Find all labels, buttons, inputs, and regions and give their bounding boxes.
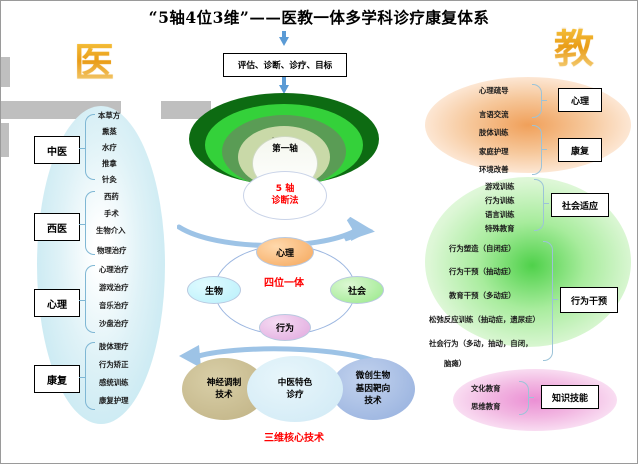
right-item: 文化教育: [471, 383, 501, 394]
tech-line: 技术: [215, 389, 232, 401]
right-item: 特殊教育: [485, 223, 515, 234]
left-item: 熏蒸: [102, 126, 117, 137]
right-item: 行为塑造（自闭症）: [449, 243, 516, 254]
left-group-box-tcm[interactable]: 中医: [34, 136, 80, 164]
tech-line: 中医特色: [278, 377, 312, 389]
brace-rehab: [85, 342, 95, 410]
arrow-down-icon: [279, 37, 289, 46]
axis-label: 第一轴: [253, 142, 317, 154]
tech-line: 诊疗: [286, 389, 303, 401]
right-item: 语言训练: [485, 209, 515, 220]
left-item: 音乐治疗: [99, 300, 129, 311]
tech-ellipse-tcm[interactable]: 中医特色 诊疗: [247, 356, 343, 422]
left-group-box-rehab[interactable]: 康复: [34, 365, 80, 393]
right-item: 思维教育: [471, 401, 501, 412]
core-label-line2: 诊断法: [271, 196, 298, 207]
tech-line: 技术: [364, 395, 381, 407]
left-heading-char: 医: [74, 43, 114, 83]
tech-line: 基因靶向: [356, 383, 390, 395]
left-group-box-western[interactable]: 西医: [34, 213, 80, 241]
tech-line: 神经调制: [207, 377, 241, 389]
five-axis-core[interactable]: 5 轴 诊断法: [243, 171, 327, 220]
brace-tick: [79, 377, 85, 378]
right-group-box-behavior[interactable]: 行为干预: [560, 287, 618, 313]
quad-node-social[interactable]: 社会: [330, 276, 384, 304]
left-item: 感统训练: [99, 377, 129, 388]
right-group-box-knowledge[interactable]: 知识技能: [541, 385, 599, 409]
brace-tick: [541, 100, 547, 101]
decorative-bar: [1, 123, 9, 157]
brace-tick: [79, 300, 85, 301]
decorative-bar: [1, 57, 10, 87]
left-item: 生物介入: [96, 225, 126, 236]
left-item: 本草方: [98, 110, 120, 121]
quad-center-label: 四位一体: [234, 278, 334, 291]
left-item: 心理治疗: [99, 264, 129, 275]
right-item: 家庭护理: [479, 146, 509, 157]
right-item: 松弛反应训练（抽动症，遗尿症）: [429, 314, 540, 325]
brace-right-social: [534, 179, 544, 231]
page-title: “5轴4位3维”——医教一体多学科诊疗康复体系: [1, 6, 637, 28]
brace-right-behavior: [543, 241, 553, 361]
right-item: 行为训练: [485, 195, 515, 206]
left-item: 肢体理疗: [99, 341, 129, 352]
brace-tcm: [85, 114, 95, 180]
brace-tick: [541, 149, 547, 150]
right-item: 脑瘫）: [444, 358, 466, 369]
left-item: 推拿: [102, 158, 117, 169]
right-heading-char: 教: [554, 29, 594, 69]
brace-tick: [528, 397, 534, 398]
quad-node-biological[interactable]: 生物: [187, 276, 241, 304]
right-item: 行为干预（抽动症）: [449, 266, 516, 277]
brace-western: [85, 191, 95, 255]
quad-node-behavioral[interactable]: 行为: [259, 314, 311, 341]
brace-tick: [79, 224, 85, 225]
tech-ellipse-gene-targeting[interactable]: 微创生物 基因靶向 技术: [331, 358, 415, 420]
diagram-canvas: “5轴4位3维”——医教一体多学科诊疗康复体系 医 教 中医 本草方 熏蒸 水疗…: [1, 1, 637, 463]
brace-psych: [85, 265, 95, 333]
core-label-line1: 5 轴: [276, 184, 294, 195]
brace-tick: [552, 299, 558, 300]
evaluation-box[interactable]: 评估、诊断、诊疗、目标: [223, 53, 347, 77]
quad-node-psychological[interactable]: 心理: [256, 237, 314, 267]
right-item: 肢体训练: [479, 127, 509, 138]
tech-line: 微创生物: [356, 370, 390, 382]
left-group-box-psych[interactable]: 心理: [34, 289, 80, 317]
right-item: 言语交流: [479, 109, 509, 120]
left-item: 水疗: [102, 142, 117, 153]
left-item: 沙盘治疗: [99, 318, 129, 329]
right-item: 心理疏导: [479, 85, 509, 96]
left-item: 手术: [104, 208, 119, 219]
three-tech-caption: 三维核心技术: [214, 433, 374, 446]
right-group-box-psych[interactable]: 心理: [558, 88, 602, 112]
left-item: 西药: [104, 191, 119, 202]
right-group-box-rehab[interactable]: 康复: [558, 138, 602, 162]
left-item: 物理治疗: [97, 245, 127, 256]
brace-tick: [79, 148, 85, 149]
right-group-box-social[interactable]: 社会适应: [551, 193, 609, 217]
left-item: 针灸: [102, 174, 117, 185]
right-item: 教育干预（多动症）: [449, 290, 516, 301]
right-item: 游戏训练: [485, 181, 515, 192]
left-item: 康复护理: [99, 395, 129, 406]
right-item: 环境改善: [479, 164, 509, 175]
brace-tick: [543, 203, 549, 204]
left-item: 游戏治疗: [99, 282, 129, 293]
right-item: 社会行为（多动，抽动，自闭，: [429, 338, 532, 349]
left-item: 行为矫正: [99, 359, 129, 370]
